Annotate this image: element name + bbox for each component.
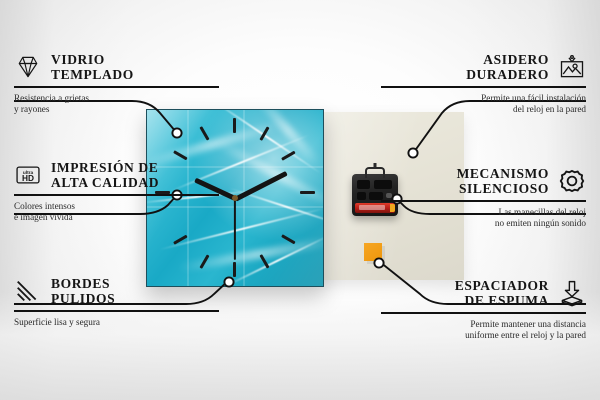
feature-vidrio-templado[interactable]: VIDRIO TEMPLADO Resistencia a grietas y … (14, 52, 219, 115)
feature-title-line1: VIDRIO (51, 52, 134, 67)
clock-tick (233, 262, 236, 277)
feature-mecanismo-silencioso[interactable]: MECANISMO SILENCIOSO Las manecillas del … (381, 166, 586, 229)
feature-divider (381, 200, 586, 202)
feature-impresion-alta-calidad[interactable]: ultra HD IMPRESIÓN DE ALTA CALIDAD Color… (14, 160, 219, 223)
feature-title-line1: BORDES (51, 276, 115, 291)
feature-title-line2: DE ESPUMA (455, 293, 549, 308)
foam-spacer (364, 243, 382, 261)
feature-asidero-duradero[interactable]: ASIDERO DURADERO Permite una fácil insta… (381, 52, 586, 115)
feature-sub-line2: e imagen vívida (14, 212, 219, 223)
svg-text:HD: HD (22, 173, 34, 183)
feature-sub-line1: Colores intensos (14, 201, 219, 212)
arrow-down-stack-icon (558, 279, 586, 307)
polished-edges-icon (14, 277, 42, 305)
feature-espaciador-de-espuma[interactable]: ESPACIADOR DE ESPUMA Permite mantener un… (381, 278, 586, 341)
feature-title-line1: MECANISMO (457, 166, 549, 181)
feature-sub-line2: uniforme entre el reloj y la pared (381, 330, 586, 341)
diamond-icon (14, 53, 42, 81)
clock-center-cap (232, 195, 238, 201)
feature-divider (14, 194, 219, 196)
feature-divider (381, 86, 586, 88)
feature-bordes-pulidos[interactable]: BORDES PULIDOS Superficie lisa y segura (14, 276, 219, 328)
gear-icon (558, 167, 586, 195)
feature-sub-line2: y rayones (14, 104, 219, 115)
clock-tick (233, 118, 236, 133)
feature-sub-line1: Resistencia a grietas (14, 93, 219, 104)
clock-tick (300, 191, 315, 194)
hanging-frame-icon (558, 53, 586, 81)
feature-title-line2: PULIDOS (51, 291, 115, 306)
feature-title-line2: SILENCIOSO (457, 181, 549, 196)
feature-title-line1: IMPRESIÓN DE (51, 160, 159, 175)
feature-title-line1: ESPACIADOR (455, 278, 549, 293)
feature-sub-line2: no emiten ningún sonido (381, 218, 586, 229)
product-infographic: VIDRIO TEMPLADO Resistencia a grietas y … (0, 0, 600, 400)
feature-title-line1: ASIDERO (466, 52, 549, 67)
feature-sub-line1: Superficie lisa y segura (14, 317, 219, 328)
feature-title-line2: ALTA CALIDAD (51, 175, 159, 190)
clock-second-hand (234, 198, 236, 260)
feature-title-line2: DURADERO (466, 67, 549, 82)
feature-title-line2: TEMPLADO (51, 67, 134, 82)
ultra-hd-icon: ultra HD (14, 161, 42, 189)
feature-sub-line1: Permite una fácil instalación (381, 93, 586, 104)
feature-sub-line2: del reloj en la pared (381, 104, 586, 115)
feature-sub-line1: Las manecillas del reloj (381, 207, 586, 218)
feature-sub-line1: Permite mantener una distancia (381, 319, 586, 330)
feature-divider (381, 312, 586, 314)
feature-divider (14, 86, 219, 88)
feature-divider (14, 310, 219, 312)
